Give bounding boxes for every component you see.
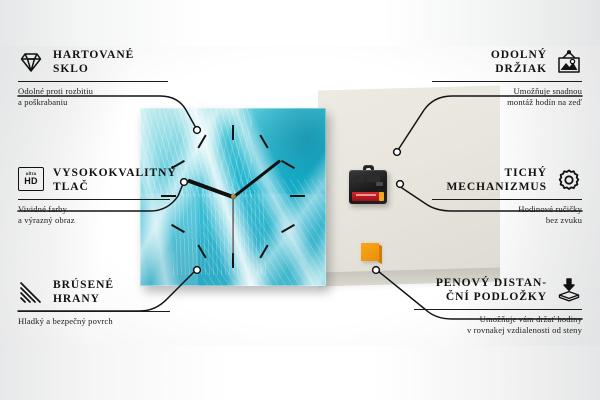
- callout-rule: [432, 199, 582, 200]
- movement-panel-right: [367, 175, 380, 182]
- background-vignette-top: [0, 0, 600, 46]
- callout-description: Vividné farby a výrazný obraz: [18, 204, 170, 227]
- callout-title: ODOLNÝ DRŽIAK: [491, 48, 547, 76]
- movement-body: [349, 170, 387, 204]
- callout-description: Hladký a bezpečný povrch: [18, 316, 170, 327]
- clock-tick-3: [290, 195, 305, 197]
- callout-title: PENOVÝ DISTAN- ČNÍ PODLOŽKY: [436, 276, 547, 304]
- callout-foam-spacers[interactable]: PENOVÝ DISTAN- ČNÍ PODLOŽKY Umožňuje vám…: [414, 276, 582, 337]
- ultra-hd-icon: ultra HD: [18, 167, 44, 193]
- battery-label-stripe: [356, 194, 376, 196]
- foam-spacer-pad: [361, 243, 379, 261]
- callout-header: BRÚSENÉ HRANY: [18, 278, 170, 306]
- callout-title: VYSOKOKVALITNÝ TLAČ: [53, 166, 177, 194]
- callout-description: Odolné proti rozbitiu a poškrabaniu: [18, 86, 168, 109]
- callout-description: Umožňuje vám držať hodiny v rovnakej vzd…: [414, 314, 582, 337]
- callout-silent-mechanism[interactable]: TICHÝ MECHANIZMUS Hodinové ručičky bez z…: [432, 166, 582, 227]
- callout-description: Hodinové ručičky bez zvuku: [432, 204, 582, 227]
- clock-second-hand: [232, 197, 233, 259]
- movement-battery: [352, 192, 382, 201]
- callout-header: ODOLNÝ DRŽIAK: [432, 48, 582, 76]
- callout-ground-edges[interactable]: BRÚSENÉ HRANY Hladký a bezpečný povrch: [18, 278, 170, 327]
- callout-header: HARTOVANÉ SKLO: [18, 48, 168, 76]
- callout-rule: [18, 199, 170, 200]
- callout-description: Umožňuje snadnou montáž hodín na zeď: [432, 86, 582, 109]
- callout-title: HARTOVANÉ SKLO: [53, 48, 134, 76]
- battery-positive-terminal: [379, 192, 384, 201]
- foam-pad-top: [361, 243, 379, 261]
- callout-high-quality-print[interactable]: ultra HD VYSOKOKVALITNÝ TLAČ Vividné far…: [18, 166, 170, 227]
- callout-rule: [432, 81, 582, 82]
- gear-icon: [556, 167, 582, 193]
- clock-tick-12: [232, 125, 234, 140]
- background-vignette-bottom: [0, 346, 600, 400]
- clock-movement: [349, 170, 387, 204]
- diamond-icon: [18, 49, 44, 75]
- callout-rule: [18, 311, 170, 312]
- callout-header: PENOVÝ DISTAN- ČNÍ PODLOŽKY: [414, 276, 582, 304]
- movement-dial: [376, 182, 383, 186]
- callout-hardened-glass[interactable]: HARTOVANÉ SKLO Odolné proti rozbitiu a p…: [18, 48, 168, 109]
- callout-title: BRÚSENÉ HRANY: [53, 278, 114, 306]
- movement-panel-left: [354, 175, 364, 182]
- brushed-edges-icon: [18, 279, 44, 305]
- callout-title: TICHÝ MECHANIZMUS: [446, 166, 547, 194]
- press-pad-icon: [556, 277, 582, 303]
- clock-hand-hub: [231, 194, 236, 199]
- callout-durable-hanger[interactable]: ODOLNÝ DRŽIAK Umožňuje snadnou montáž ho…: [432, 48, 582, 109]
- callout-rule: [18, 81, 168, 82]
- callout-rule: [414, 309, 582, 310]
- infographic-canvas: HARTOVANÉ SKLO Odolné proti rozbitiu a p…: [0, 0, 600, 400]
- callout-header: ultra HD VYSOKOKVALITNÝ TLAČ: [18, 166, 170, 194]
- ultra-hd-icon-main-text: HD: [24, 177, 37, 186]
- picture-hanger-icon: [556, 49, 582, 75]
- callout-header: TICHÝ MECHANIZMUS: [432, 166, 582, 194]
